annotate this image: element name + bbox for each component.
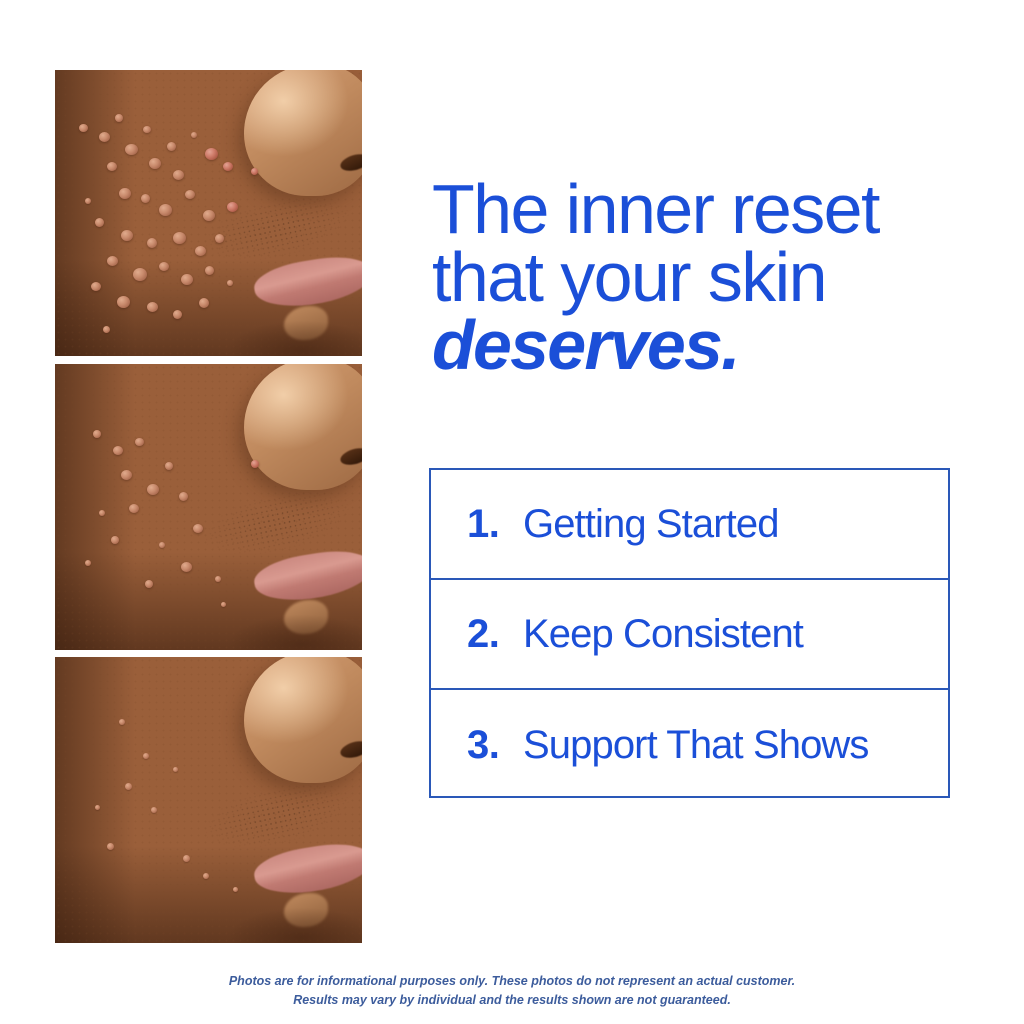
acne-cluster-heavy xyxy=(55,70,362,356)
step-label: Keep Consistent xyxy=(523,612,803,657)
step-number: 2. xyxy=(467,612,523,657)
list-item[interactable]: 2. Keep Consistent xyxy=(431,580,948,690)
after-photo xyxy=(55,657,362,943)
disclaimer-line-1: Photos are for informational purposes on… xyxy=(0,972,1024,991)
list-item[interactable]: 1. Getting Started xyxy=(431,470,948,580)
headline-emphasis: deserves. xyxy=(432,306,739,384)
progress-photo xyxy=(55,364,362,650)
step-number: 1. xyxy=(467,502,523,547)
steps-list: 1. Getting Started 2. Keep Consistent 3.… xyxy=(429,468,950,798)
list-item[interactable]: 3. Support That Shows xyxy=(431,690,948,800)
acne-cluster-minimal xyxy=(55,657,362,943)
disclaimer-line-2: Results may vary by individual and the r… xyxy=(0,991,1024,1010)
step-label: Support That Shows xyxy=(523,723,869,768)
marketing-card: The inner reset that your skin deserves.… xyxy=(0,0,1024,1024)
photo-column xyxy=(55,70,362,943)
step-label: Getting Started xyxy=(523,502,779,547)
acne-cluster-moderate xyxy=(55,364,362,650)
page-title: The inner reset that your skin deserves. xyxy=(432,175,972,379)
step-number: 3. xyxy=(467,723,523,768)
content-column: The inner reset that your skin deserves.… xyxy=(429,0,989,1024)
headline-line-2: that your skin xyxy=(432,238,826,316)
before-photo xyxy=(55,70,362,356)
disclaimer: Photos are for informational purposes on… xyxy=(0,972,1024,1010)
headline-line-1: The inner reset xyxy=(432,170,879,248)
